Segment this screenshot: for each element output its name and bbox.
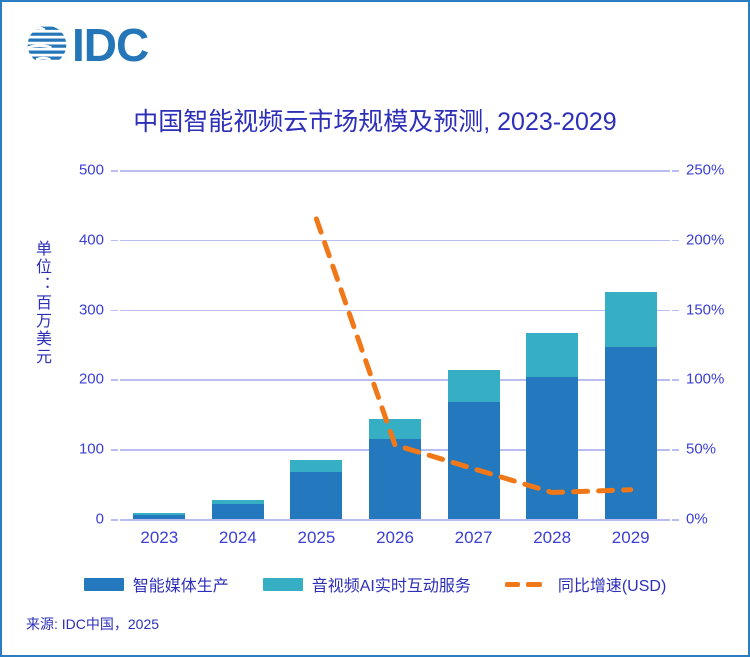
y-left-tick-400: 400 <box>79 232 104 247</box>
tick-right-50 <box>672 449 679 451</box>
legend-item-primary[interactable]: 智能媒体生产 <box>84 572 229 596</box>
y-left-tick-200: 200 <box>79 372 104 387</box>
x-axis-label-2023: 2023 <box>140 528 178 548</box>
legend-label-primary: 智能媒体生产 <box>133 572 229 596</box>
y-axis-title: 单位：百万美元 <box>30 240 52 366</box>
y-left-tick-0: 0 <box>96 512 104 527</box>
tick-left-200 <box>111 379 118 381</box>
gridline-0 <box>120 519 670 521</box>
tick-right-150 <box>672 310 679 312</box>
y-right-tick-100: 100% <box>686 372 724 387</box>
x-axis-label-2025: 2025 <box>298 528 336 548</box>
x-axis-label-2027: 2027 <box>455 528 493 548</box>
tick-left-300 <box>111 310 118 312</box>
legend-label-growth: 同比增速(USD) <box>558 572 666 596</box>
tick-right-100 <box>672 379 679 381</box>
legend-swatch-secondary <box>263 578 303 591</box>
growth-line-path[interactable] <box>316 219 630 493</box>
legend-swatch-primary <box>84 578 124 591</box>
idc-globe-icon <box>24 22 70 68</box>
x-axis-labels: 2023202420252026202720282029 <box>120 528 670 552</box>
legend-item-growth[interactable]: 同比增速(USD) <box>505 572 666 596</box>
legend-label-secondary: 音视频AI实时互动服务 <box>312 572 471 596</box>
y-left-tick-100: 100 <box>79 442 104 457</box>
plot-area: 500 400 300 200 100 0 250% 200% 150% 100… <box>120 170 670 519</box>
y-right-tick-50: 50% <box>686 442 716 457</box>
tick-right-250 <box>672 170 679 172</box>
y-right-tick-150: 150% <box>686 302 724 317</box>
y-right-tick-250: 250% <box>686 163 724 178</box>
tick-left-500 <box>111 170 118 172</box>
chart-page: IDC 中国智能视频云市场规模及预测, 2023-2029 单位：百万美元 50… <box>0 0 750 657</box>
y-left-tick-300: 300 <box>79 302 104 317</box>
legend-swatch-growth-dashed-line <box>505 582 549 587</box>
idc-logo-text: IDC <box>72 22 148 68</box>
y-right-tick-0: 0% <box>686 512 708 527</box>
x-axis-label-2024: 2024 <box>219 528 257 548</box>
chart-legend: 智能媒体生产 音视频AI实时互动服务 同比增速(USD) <box>2 572 748 596</box>
growth-line-series <box>120 170 670 519</box>
x-axis-label-2028: 2028 <box>533 528 571 548</box>
tick-left-100 <box>111 449 118 451</box>
tick-right-0 <box>672 519 679 521</box>
y-left-tick-500: 500 <box>79 163 104 178</box>
y-right-tick-200: 200% <box>686 232 724 247</box>
legend-item-secondary[interactable]: 音视频AI实时互动服务 <box>263 572 471 596</box>
x-axis-label-2029: 2029 <box>612 528 650 548</box>
source-note: 来源: IDC中国，2025 <box>26 614 159 634</box>
page-title: 中国智能视频云市场规模及预测, 2023-2029 <box>2 102 748 138</box>
tick-right-200 <box>672 240 679 242</box>
tick-left-400 <box>111 240 118 242</box>
tick-left-0 <box>111 519 118 521</box>
idc-logo: IDC <box>24 22 148 68</box>
x-axis-label-2026: 2026 <box>376 528 414 548</box>
